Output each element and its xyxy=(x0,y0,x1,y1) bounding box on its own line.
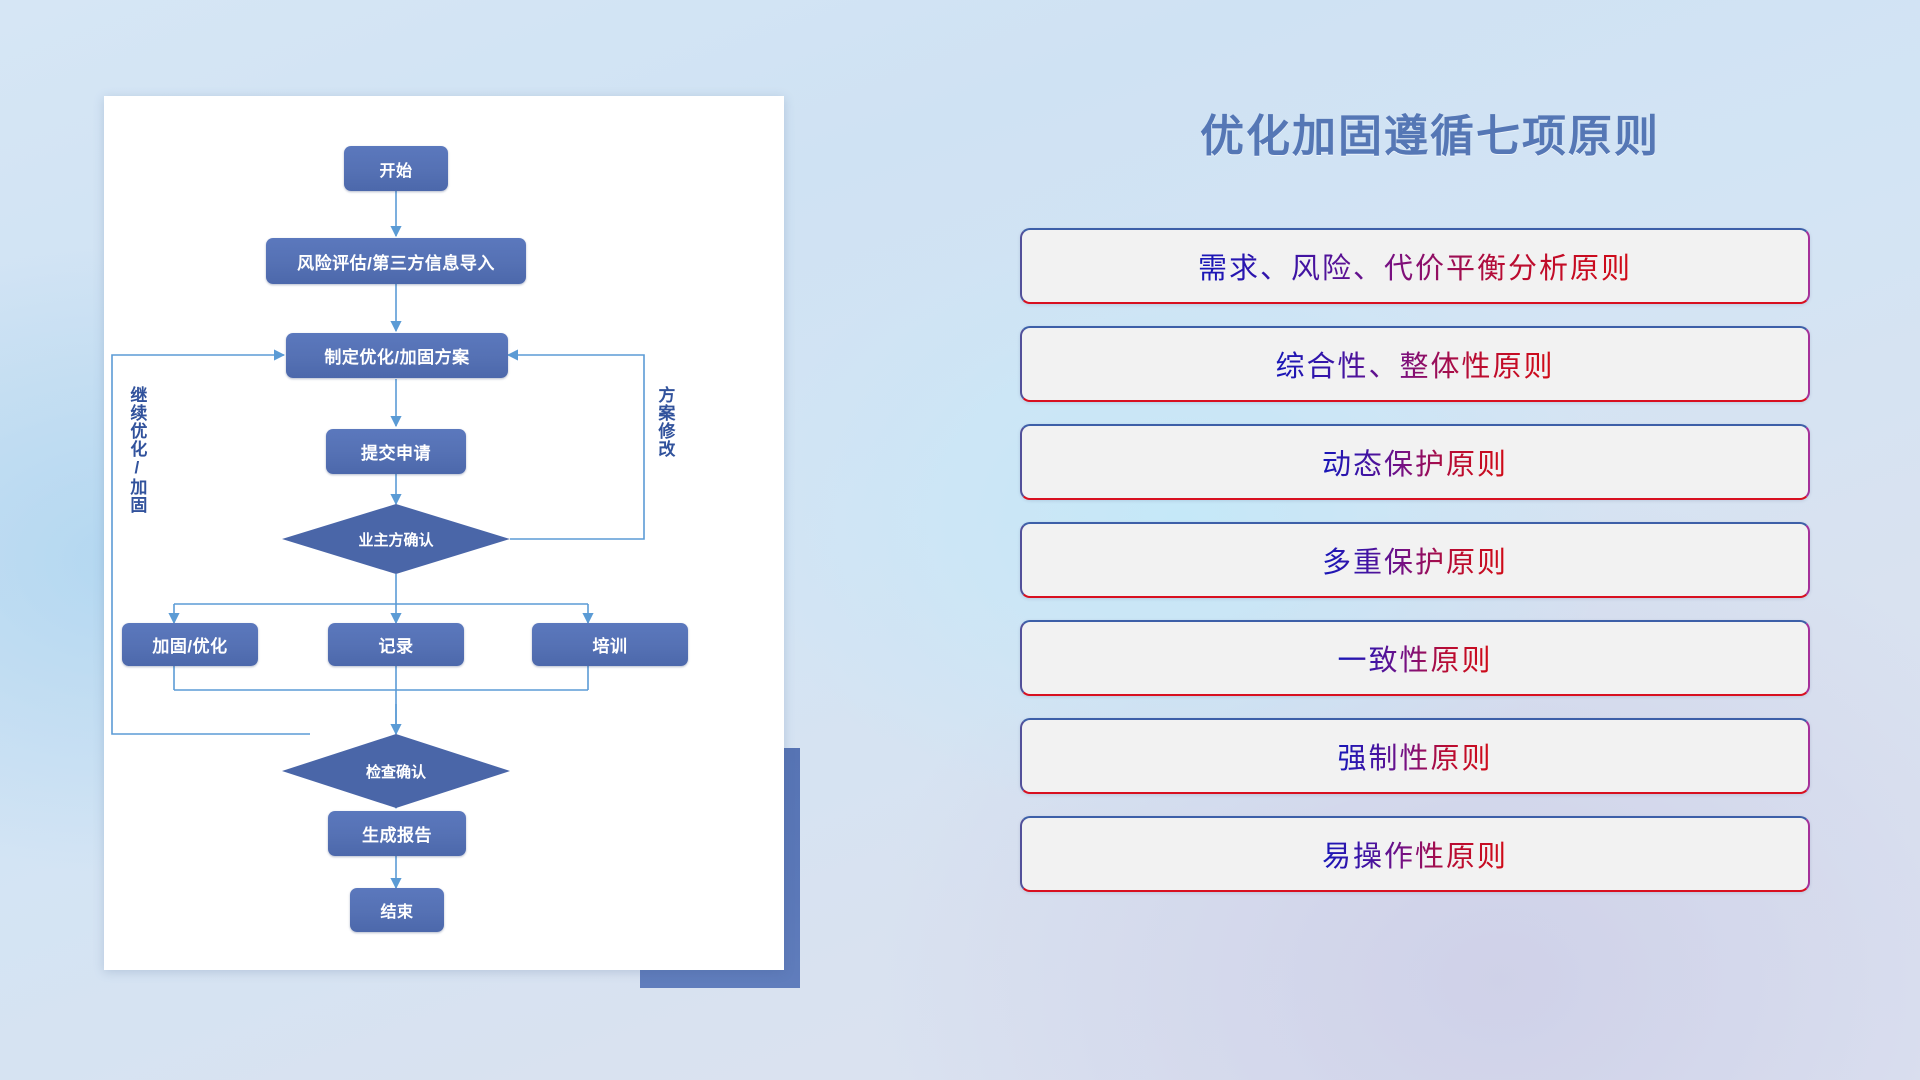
principle-item[interactable]: 一致性原则 xyxy=(1020,620,1810,696)
flow-node-reinforce-optimize[interactable]: 加固/优化 xyxy=(122,623,258,666)
flow-node-risk-assessment-label: 风险评估/第三方信息导入 xyxy=(297,249,495,274)
flow-node-risk-assessment[interactable]: 风险评估/第三方信息导入 xyxy=(266,238,526,284)
flow-edge-label-left-loop: 继续优化/加固 xyxy=(128,386,145,536)
principle-item-label: 多重保护原则 xyxy=(1322,539,1508,581)
flow-node-check-confirm-label: 检查确认 xyxy=(366,761,426,782)
flow-node-make-plan[interactable]: 制定优化/加固方案 xyxy=(286,333,508,378)
principles-panel: 优化加固遵循七项原则 需求、风险、代价平衡分析原则 综合性、整体性原则 动态保护… xyxy=(1020,100,1840,1000)
principle-item[interactable]: 动态保护原则 xyxy=(1020,424,1810,500)
principle-item-label: 一致性原则 xyxy=(1337,637,1492,679)
flow-edge-label-right-loop: 方案修改 xyxy=(656,386,673,506)
principles-list: 需求、风险、代价平衡分析原则 综合性、整体性原则 动态保护原则 多重保护原则 一… xyxy=(1020,228,1810,914)
flow-node-submit-application-label: 提交申请 xyxy=(361,439,431,464)
flow-node-end-label: 结束 xyxy=(380,898,413,922)
principle-item[interactable]: 多重保护原则 xyxy=(1020,522,1810,598)
principle-item-label: 强制性原则 xyxy=(1337,735,1492,777)
flow-node-record[interactable]: 记录 xyxy=(328,623,464,666)
principle-item[interactable]: 需求、风险、代价平衡分析原则 xyxy=(1020,228,1810,304)
flow-node-training-label: 培训 xyxy=(593,632,628,657)
principle-item-label: 需求、风险、代价平衡分析原则 xyxy=(1198,245,1632,287)
flow-node-generate-report-label: 生成报告 xyxy=(362,821,432,846)
flow-node-record-label: 记录 xyxy=(379,632,414,657)
flow-node-check-confirm[interactable]: 检查确认 xyxy=(282,734,510,808)
flow-node-end[interactable]: 结束 xyxy=(350,888,444,932)
flowchart-card: 开始 风险评估/第三方信息导入 制定优化/加固方案 提交申请 业主方确认 加固/… xyxy=(104,96,784,970)
flow-node-training[interactable]: 培训 xyxy=(532,623,688,666)
principle-item-label: 综合性、整体性原则 xyxy=(1275,343,1554,385)
flow-node-reinforce-optimize-label: 加固/优化 xyxy=(152,632,227,657)
principles-panel-title: 优化加固遵循七项原则 xyxy=(1020,100,1840,164)
flow-node-owner-confirm[interactable]: 业主方确认 xyxy=(282,504,510,574)
flow-node-owner-confirm-label: 业主方确认 xyxy=(358,529,433,550)
principle-item[interactable]: 综合性、整体性原则 xyxy=(1020,326,1810,402)
flow-node-start[interactable]: 开始 xyxy=(344,146,448,191)
slide-canvas: 开始 风险评估/第三方信息导入 制定优化/加固方案 提交申请 业主方确认 加固/… xyxy=(0,0,1920,1080)
flow-node-generate-report[interactable]: 生成报告 xyxy=(328,811,466,856)
principle-item[interactable]: 易操作性原则 xyxy=(1020,816,1810,892)
principle-item-label: 动态保护原则 xyxy=(1322,441,1508,483)
principle-item[interactable]: 强制性原则 xyxy=(1020,718,1810,794)
flow-node-start-label: 开始 xyxy=(379,157,412,181)
flow-node-make-plan-label: 制定优化/加固方案 xyxy=(324,343,469,368)
flowchart-inner: 开始 风险评估/第三方信息导入 制定优化/加固方案 提交申请 业主方确认 加固/… xyxy=(104,96,784,970)
principle-item-label: 易操作性原则 xyxy=(1322,833,1508,875)
flow-node-submit-application[interactable]: 提交申请 xyxy=(326,429,466,474)
